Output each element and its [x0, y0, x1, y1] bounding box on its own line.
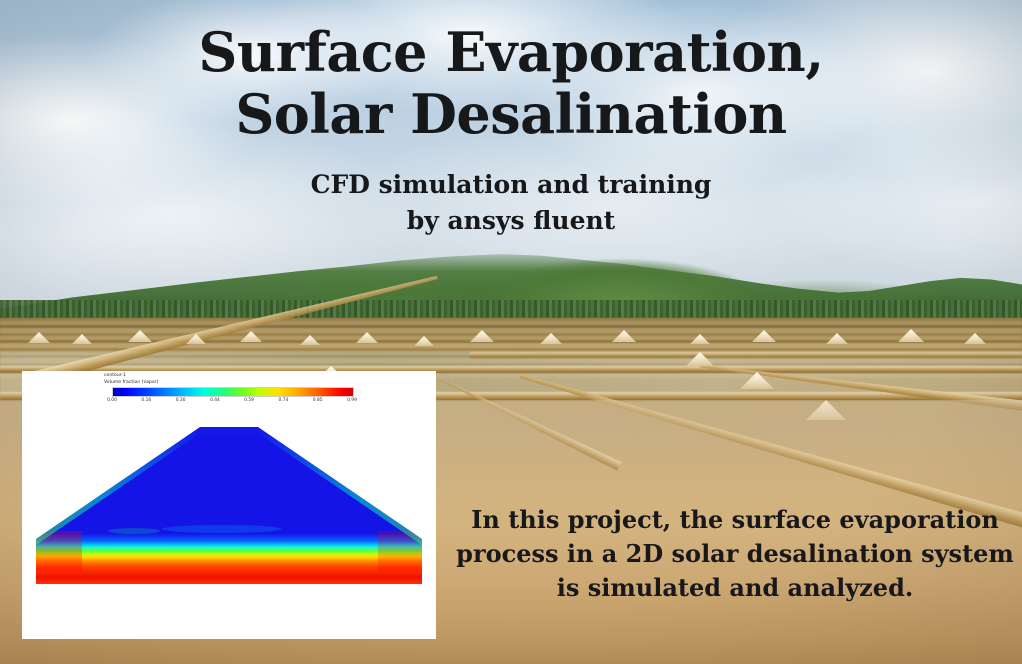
colorbar-tick: 0.85 [313, 398, 323, 403]
colorbar-tick-labels: 0.000.160.300.440.590.740.850.99 [112, 398, 352, 407]
contour-colorbar [112, 387, 354, 397]
subtitle-line-1: CFD simulation and training [0, 167, 1022, 203]
colorbar-tick: 0.99 [347, 398, 357, 403]
dike-horizontal-3 [470, 352, 1022, 358]
poster-canvas: Surface Evaporation, Solar Desalination … [0, 0, 1022, 664]
colorbar-tick: 0.00 [107, 398, 117, 403]
contour-plot-geometry [22, 419, 436, 639]
colorbar-tick: 0.59 [244, 398, 254, 403]
title-line-2: Solar Desalination [0, 84, 1022, 146]
page-subtitle: CFD simulation and training by ansys flu… [0, 167, 1022, 238]
colorbar-tick: 0.74 [278, 398, 288, 403]
description-text: In this project, the surface evaporation… [455, 503, 1015, 605]
colorbar-tick: 0.30 [176, 398, 186, 403]
colorbar-tick: 0.16 [141, 398, 151, 403]
page-title: Surface Evaporation, Solar Desalination [0, 22, 1022, 145]
cfd-contour-panel: contour-1Volume fraction (vapor) 0.000.1… [22, 371, 436, 639]
colorbar-tick: 0.44 [210, 398, 220, 403]
title-line-1: Surface Evaporation, [0, 22, 1022, 84]
subtitle-line-2: by ansys fluent [0, 203, 1022, 239]
legend-line-2: Volume fraction (vapor) [104, 380, 158, 385]
legend-line-1: contour-1 [104, 373, 126, 378]
contour-legend-title: contour-1Volume fraction (vapor) [104, 373, 158, 386]
